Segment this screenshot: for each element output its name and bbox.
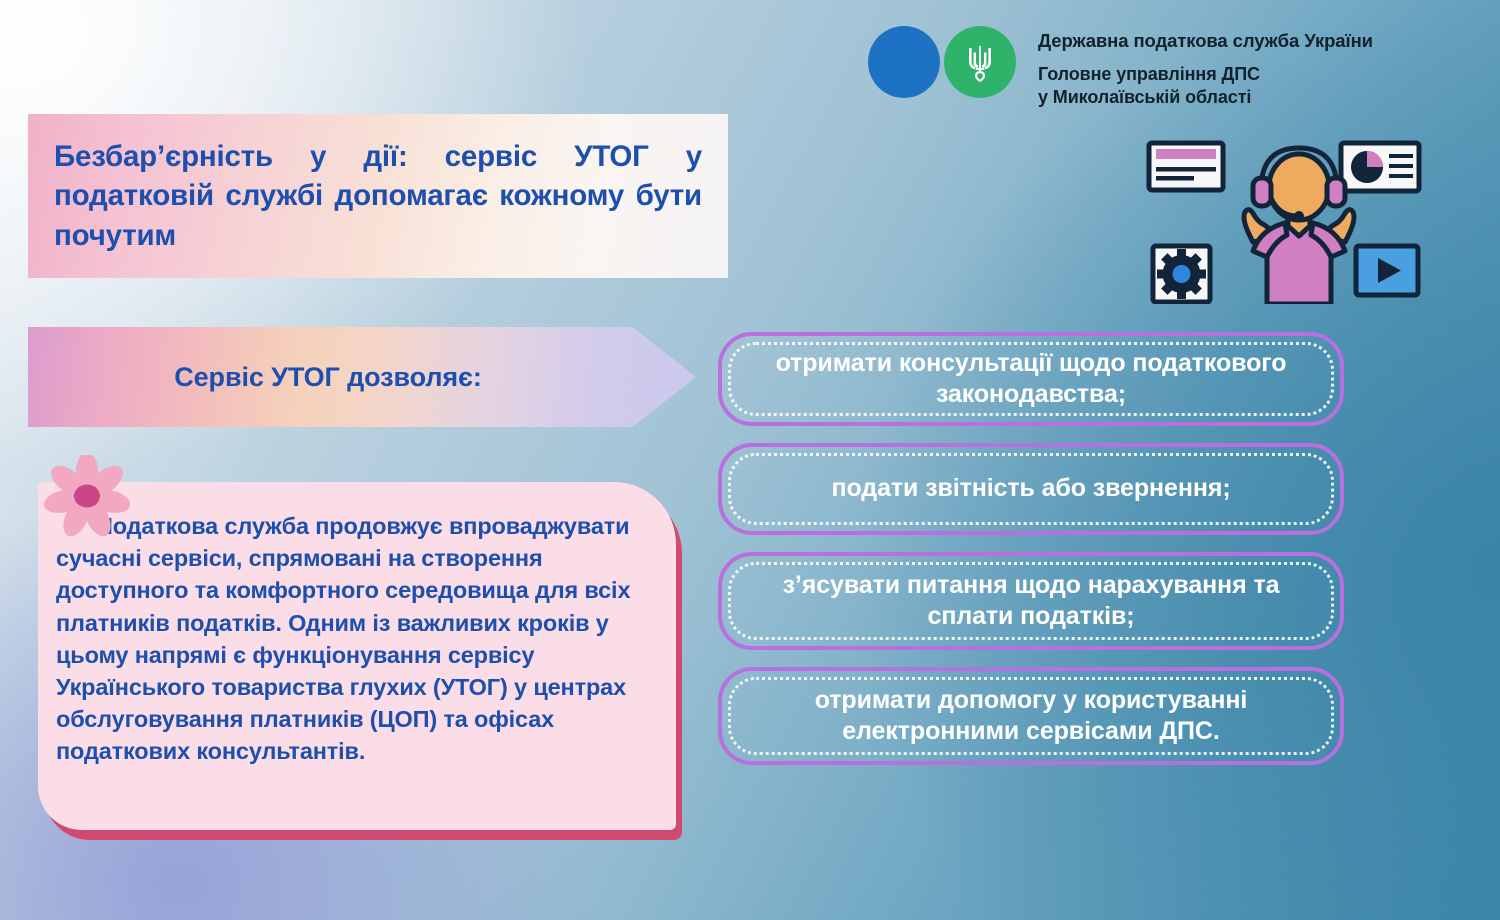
arrow-banner-label: Сервіс УТОГ дозволяє: xyxy=(28,362,628,393)
logo-green-circle-icon xyxy=(944,26,1016,98)
gear-icon xyxy=(1153,246,1210,302)
bullet-label-2: подати звітність або звернення; xyxy=(805,473,1256,505)
agent-figure xyxy=(1244,148,1354,304)
bullet-box-1[interactable]: отримати консультації щодо податкового з… xyxy=(718,332,1344,426)
bullet-label-3: з’ясувати питання щодо нарахування та сп… xyxy=(722,570,1340,633)
bullet-box-4[interactable]: отримати допомогу у користуванні електро… xyxy=(718,667,1344,765)
document-icon xyxy=(1149,143,1223,190)
play-button-icon xyxy=(1356,246,1418,295)
flower-decoration-icon xyxy=(33,455,141,551)
bullet-box-3[interactable]: з’ясувати питання щодо нарахування та сп… xyxy=(718,552,1344,650)
pie-chart-icon xyxy=(1341,143,1419,191)
bullet-box-2[interactable]: подати звітність або звернення; xyxy=(718,443,1344,535)
agency-name-line-3: у Миколаївській області xyxy=(1038,86,1373,109)
agency-name-block: Державна податкова служба України Головн… xyxy=(1038,26,1373,110)
page-title: Безбар’єрність у дії: сервіс УТОГ у пода… xyxy=(54,137,702,255)
agency-name-line-1: Державна податкова служба України xyxy=(1038,30,1373,52)
title-banner: Безбар’єрність у дії: сервіс УТОГ у пода… xyxy=(28,114,728,278)
logo-blue-circle-icon xyxy=(868,26,940,98)
ukraine-trident-icon xyxy=(965,42,995,82)
agency-logo-header: Державна податкова служба України Головн… xyxy=(868,26,1373,110)
support-agent-illustration xyxy=(1145,132,1455,304)
infographic-canvas: Державна податкова служба України Головн… xyxy=(0,0,1500,920)
body-paragraph: Податкова служба продовжує впроваджувати… xyxy=(56,510,646,768)
arrow-banner-service-allows: Сервіс УТОГ дозволяє: xyxy=(28,327,696,427)
bullet-label-4: отримати допомогу у користуванні електро… xyxy=(722,685,1340,748)
agency-name-line-2: Головне управління ДПС xyxy=(1038,63,1373,86)
bullet-label-1: отримати консультації щодо податкового з… xyxy=(722,348,1340,411)
